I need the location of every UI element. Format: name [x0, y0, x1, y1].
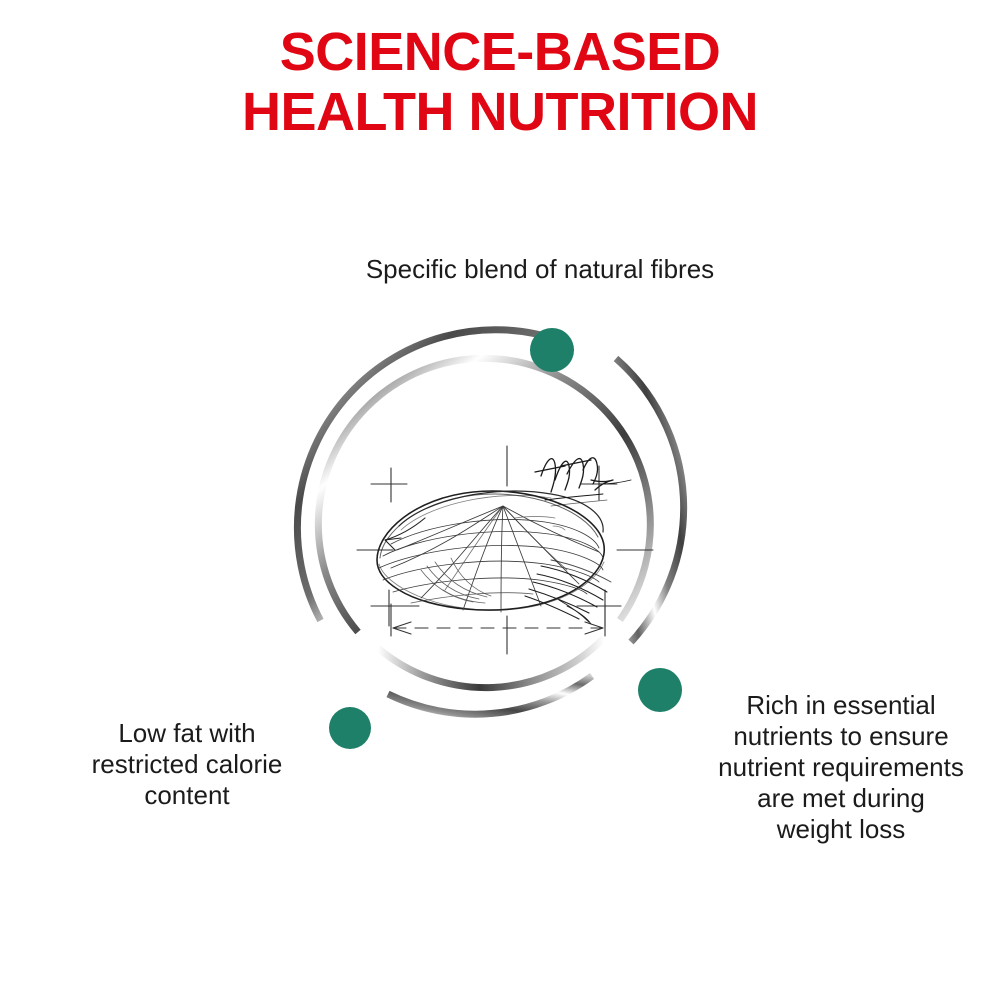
page-title-line-2: HEALTH NUTRITION	[0, 82, 1000, 142]
surface-detail-marks	[515, 517, 565, 531]
registration-marks-icon	[357, 446, 653, 654]
kibble-longitude-lines	[391, 506, 599, 612]
node-dot-low-fat[interactable]	[329, 707, 371, 749]
page-title-line-1: SCIENCE-BASED	[0, 22, 1000, 82]
kibble-outline	[377, 491, 604, 610]
callout-label-low-fat: Low fat with restricted calorie content	[42, 718, 332, 811]
kibble-sketch-graphic	[355, 440, 655, 660]
callout-label-nutrients: Rich in essential nutrients to ensure nu…	[686, 690, 996, 845]
outer-ring-arc-bottom	[388, 676, 592, 714]
node-dot-nutrients[interactable]	[638, 668, 682, 712]
node-dot-fibres[interactable]	[530, 328, 574, 372]
kibble-latitude-lines	[379, 519, 603, 603]
kibble-sketch	[355, 440, 655, 660]
page-title: SCIENCE-BASED HEALTH NUTRITION	[0, 22, 1000, 142]
callout-label-fibres: Specific blend of natural fibres	[250, 254, 830, 285]
handwritten-annotation	[535, 458, 631, 506]
infographic-panel: SCIENCE-BASED HEALTH NUTRITION	[0, 0, 1000, 1000]
